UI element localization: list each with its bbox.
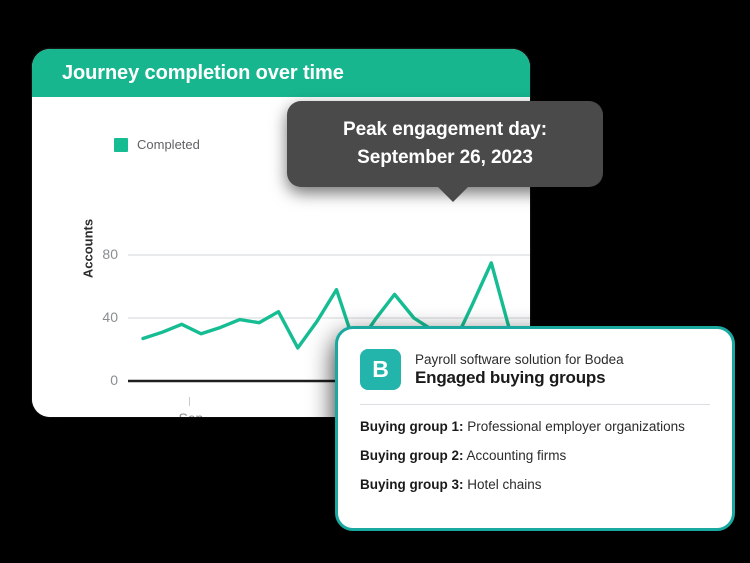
peak-engagement-tooltip: Peak engagement day: September 26, 2023 — [287, 101, 603, 187]
groups-card-header: B Payroll software solution for Bodea En… — [360, 349, 710, 390]
buying-group-label: Buying group 2: — [360, 448, 464, 463]
chart-card-header: Journey completion over time — [32, 49, 530, 97]
buying-group-value: Hotel chains — [467, 477, 541, 492]
groups-card-title: Engaged buying groups — [415, 368, 624, 388]
buying-group-value: Professional employer organizations — [467, 419, 685, 434]
groups-card-eyebrow: Payroll software solution for Bodea — [415, 352, 624, 367]
tooltip-line-2: September 26, 2023 — [357, 145, 533, 171]
tooltip-line-1: Peak engagement day: — [343, 117, 547, 143]
buying-group-value: Accounting firms — [467, 448, 567, 463]
buying-group-label: Buying group 1: — [360, 419, 464, 434]
divider — [360, 404, 710, 405]
tooltip-pointer-icon — [437, 186, 469, 202]
list-item: Buying group 1: Professional employer or… — [360, 419, 710, 434]
avatar-letter: B — [372, 358, 389, 381]
avatar: B — [360, 349, 401, 390]
list-item: Buying group 2: Accounting firms — [360, 448, 710, 463]
list-item: Buying group 3: Hotel chains — [360, 477, 710, 492]
buying-groups-list: Buying group 1: Professional employer or… — [360, 419, 710, 492]
groups-card-heading-text: Payroll software solution for Bodea Enga… — [415, 352, 624, 388]
engaged-buying-groups-card: B Payroll software solution for Bodea En… — [335, 326, 735, 531]
page-title: Journey completion over time — [62, 62, 344, 85]
buying-group-label: Buying group 3: — [360, 477, 464, 492]
